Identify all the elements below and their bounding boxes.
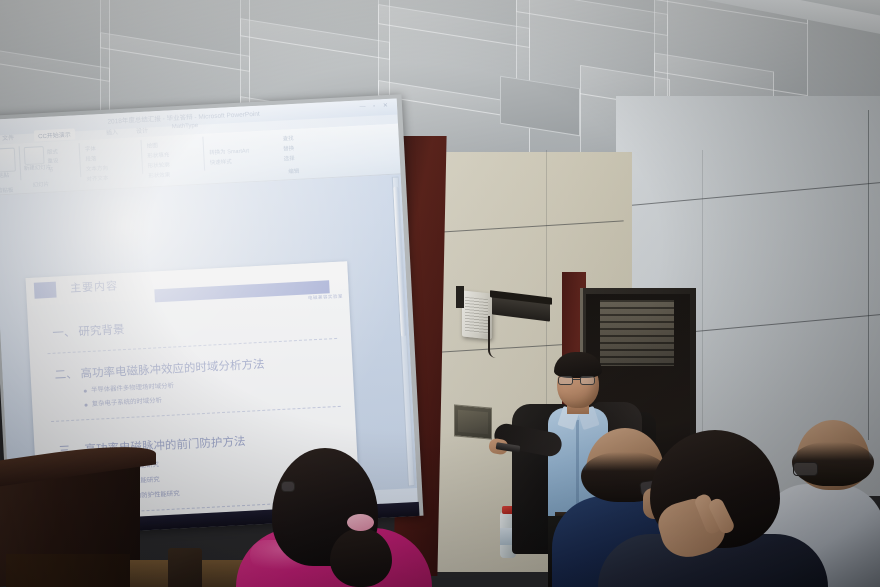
- ribbon-label-layout[interactable]: 版式: [47, 147, 58, 156]
- lecture-hall-photo: 2018年度总结汇报 - 毕业答辩 - Microsoft PowerPoint…: [0, 0, 880, 587]
- ribbon-label-reset[interactable]: 重设: [47, 156, 58, 165]
- slide-section-2-number: 二、: [54, 365, 81, 382]
- ribbon-label-align-text[interactable]: 对齐文本: [86, 174, 108, 183]
- chair-back-left: [168, 548, 202, 587]
- presenter-glasses: [558, 376, 599, 385]
- ribbon-label-paste: 粘贴: [0, 171, 9, 180]
- ribbon-label-clipboard: 剪贴板: [0, 186, 14, 195]
- ribbon-label-paragraph[interactable]: 段落: [85, 154, 96, 163]
- presenter-shirt-placket: [576, 420, 579, 515]
- ribbon-label-editing: 编辑: [288, 167, 299, 176]
- tab-file[interactable]: 文件: [2, 133, 14, 143]
- ribbon-label-slides: 幻灯片: [32, 180, 49, 189]
- ribbon-label-find[interactable]: 查找: [282, 134, 293, 143]
- slide-section-1: 一、研究背景: [52, 310, 340, 341]
- tab-design[interactable]: 设计: [136, 126, 148, 136]
- ribbon-label-shape-effects[interactable]: 形状效果: [148, 170, 170, 179]
- ribbon-label-select[interactable]: 选择: [283, 154, 294, 163]
- window-controls[interactable]: — ▫ ✕: [359, 102, 391, 111]
- right-man-glasses: [793, 462, 818, 476]
- door-window-blinds: [600, 300, 674, 366]
- slide-title-accent-square: [34, 282, 57, 299]
- ribbon-label-replace[interactable]: 替换: [283, 144, 294, 153]
- presenter-hair: [554, 352, 602, 378]
- ribbon-label-text-direction[interactable]: 文本方向: [86, 164, 108, 173]
- woman-glasses-temple: [281, 481, 295, 492]
- woman-ponytail: [330, 528, 392, 587]
- ribbon-label-font[interactable]: 字体: [85, 144, 96, 153]
- ribbon-label-shape-fill[interactable]: 形状填充: [147, 150, 169, 159]
- ribbon-label-drawing[interactable]: 绘图: [147, 141, 158, 150]
- equipment-cable: [488, 316, 506, 358]
- ribbon-label-shape-outline[interactable]: 形状轮廓: [148, 160, 170, 169]
- ribbon-label-quick-styles[interactable]: 快速样式: [210, 157, 232, 166]
- woman-hair-tie: [347, 514, 374, 531]
- speaker-bracket: [456, 286, 464, 308]
- podium-base: [6, 554, 130, 587]
- tab-mathtype[interactable]: MathType: [172, 123, 199, 130]
- ribbon-label-section[interactable]: 节: [48, 166, 54, 174]
- tab-start-presentation[interactable]: CC开始演示: [34, 128, 75, 141]
- paste-button[interactable]: [0, 148, 16, 173]
- tab-insert[interactable]: 插入: [106, 127, 118, 137]
- slide-section-1-number: 一、: [52, 323, 79, 340]
- ribbon-label-convert-smartart[interactable]: 转换为 SmartArt: [209, 146, 249, 156]
- slide-title: 主要内容: [70, 277, 119, 295]
- slide-section-1-heading: 研究背景: [78, 322, 125, 338]
